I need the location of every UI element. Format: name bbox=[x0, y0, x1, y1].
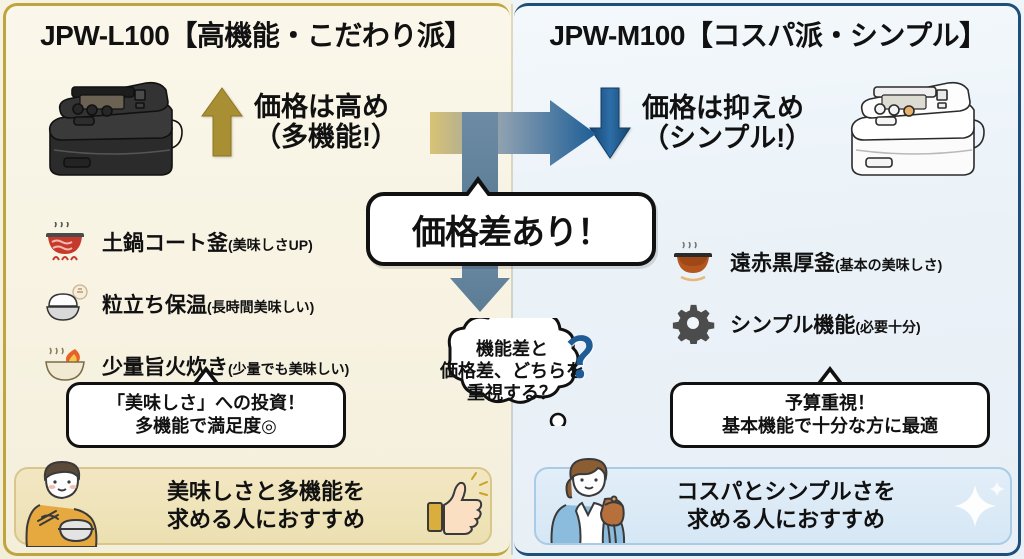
right-feature-title-2: シンプル機能 bbox=[730, 314, 855, 337]
banner-tail-fill bbox=[466, 183, 490, 199]
clay-pot-inner-pan-icon bbox=[44, 222, 90, 262]
left-feature-item-2: 粒立ち保温(長時間美味しい) bbox=[44, 284, 349, 324]
right-price-text: 価格は抑えめ （シンプル!） bbox=[642, 93, 812, 153]
right-feature-label-1: 遠赤黒厚釜(基本の美味しさ) bbox=[730, 247, 942, 277]
left-price-line1: 価格は高め bbox=[254, 92, 389, 122]
man-eating-rice-illustration bbox=[16, 467, 112, 545]
left-product-title: JPW-L100【高機能・こだわり派】 bbox=[0, 14, 512, 54]
right-feature-title-1: 遠赤黒厚釜 bbox=[730, 252, 835, 275]
right-recommendation-bar: コスパとシンプルさを 求める人におすすめ bbox=[534, 467, 1012, 545]
left-feature-label-3: 少量旨火炊き(少量でも美味しい) bbox=[102, 351, 349, 381]
right-feature-list: 遠赤黒厚釜(基本の美味しさ) シンプル機能(必要十分) bbox=[672, 242, 942, 366]
thought-line-3: 重視する？ bbox=[467, 383, 557, 405]
right-recommendation-line-2: 求める人におすすめ bbox=[632, 506, 940, 534]
right-callout-line-2: 基本機能で十分な方に最適 bbox=[722, 415, 938, 438]
left-price-line2: （多機能!） bbox=[254, 122, 398, 152]
gear-simple-function-icon bbox=[672, 304, 718, 344]
question-mark-icon: ？ bbox=[567, 314, 621, 393]
woman-with-wallet-illustration bbox=[536, 467, 632, 545]
right-recommendation-line-1: コスパとシンプルさを bbox=[632, 478, 940, 506]
white-rice-cooker-illustration bbox=[838, 62, 998, 182]
left-recommendation-line-2: 求める人におすすめ bbox=[112, 506, 420, 534]
thumbs-up-icon bbox=[420, 471, 490, 541]
sparkle-icon bbox=[940, 471, 1010, 541]
left-callout-box: 「美味しさ」への投資！ 多機能で満足度◎ bbox=[66, 382, 346, 448]
right-price-line2: （シンプル!） bbox=[642, 123, 812, 153]
price-difference-banner: 価格差あり！ bbox=[366, 192, 656, 266]
left-feature-note-1: (美味しさUP) bbox=[228, 237, 313, 253]
right-feature-label-2: シンプル機能(必要十分) bbox=[730, 309, 921, 339]
left-feature-title-2: 粒立ち保温 bbox=[102, 294, 207, 317]
right-feature-note-2: (必要十分) bbox=[855, 319, 920, 335]
thought-line-1: 機能差と bbox=[476, 339, 548, 361]
left-feature-label-2: 粒立ち保温(長時間美味しい) bbox=[102, 289, 314, 319]
left-recommendation-line-1: 美味しさと多機能を bbox=[112, 478, 420, 506]
right-feature-item-2: シンプル機能(必要十分) bbox=[672, 304, 942, 344]
left-recommendation-bar: 美味しさと多機能を 求める人におすすめ bbox=[14, 467, 492, 545]
left-feature-note-2: (長時間美味しい) bbox=[207, 299, 314, 315]
left-feature-title-1: 土鍋コート釜 bbox=[102, 232, 228, 255]
right-recommendation-text: コスパとシンプルさを 求める人におすすめ bbox=[632, 478, 940, 533]
left-feature-note-3: (少量でも美味しい) bbox=[228, 361, 349, 377]
left-recommendation-text: 美味しさと多機能を 求める人におすすめ bbox=[112, 478, 420, 533]
left-callout-line-2: 多機能で満足度◎ bbox=[135, 415, 277, 438]
right-callout-line-1: 予算重視！ bbox=[785, 392, 875, 415]
left-callout-line-1: 「美味しさ」への投資！ bbox=[107, 392, 305, 415]
right-callout-box: 予算重視！ 基本機能で十分な方に最適 bbox=[670, 382, 990, 448]
left-price-text: 価格は高め （多機能!） bbox=[254, 92, 398, 152]
right-price-indicator: 価格は抑えめ （シンプル!） bbox=[588, 86, 812, 160]
black-rice-cooker-illustration bbox=[36, 62, 196, 182]
left-feature-item-1: 土鍋コート釜(美味しさUP) bbox=[44, 222, 349, 262]
price-difference-text: 価格差あり！ bbox=[412, 205, 610, 254]
arrow-up-gold-icon bbox=[200, 86, 244, 158]
small-portion-flame-icon bbox=[44, 346, 90, 386]
infographic-root: JPW-L100【高機能・こだわり派】 JPW-M100【コスパ派・シンプル】 bbox=[0, 0, 1024, 559]
rice-bowl-keep-warm-icon bbox=[44, 284, 90, 324]
right-product-title: JPW-M100【コスパ派・シンプル】 bbox=[512, 14, 1024, 54]
far-infrared-black-pan-icon bbox=[672, 242, 718, 282]
thought-bubble: 機能差と 価格差、どちらを 重視する？ ？ bbox=[412, 318, 612, 426]
right-price-line1: 価格は抑えめ bbox=[642, 93, 804, 123]
left-price-indicator: 価格は高め （多機能!） bbox=[200, 86, 398, 158]
right-feature-item-1: 遠赤黒厚釜(基本の美味しさ) bbox=[672, 242, 942, 282]
right-feature-note-1: (基本の美味しさ) bbox=[835, 257, 942, 273]
thought-line-2: 価格差、どちらを bbox=[440, 361, 584, 383]
left-feature-label-1: 土鍋コート釜(美味しさUP) bbox=[102, 227, 313, 257]
